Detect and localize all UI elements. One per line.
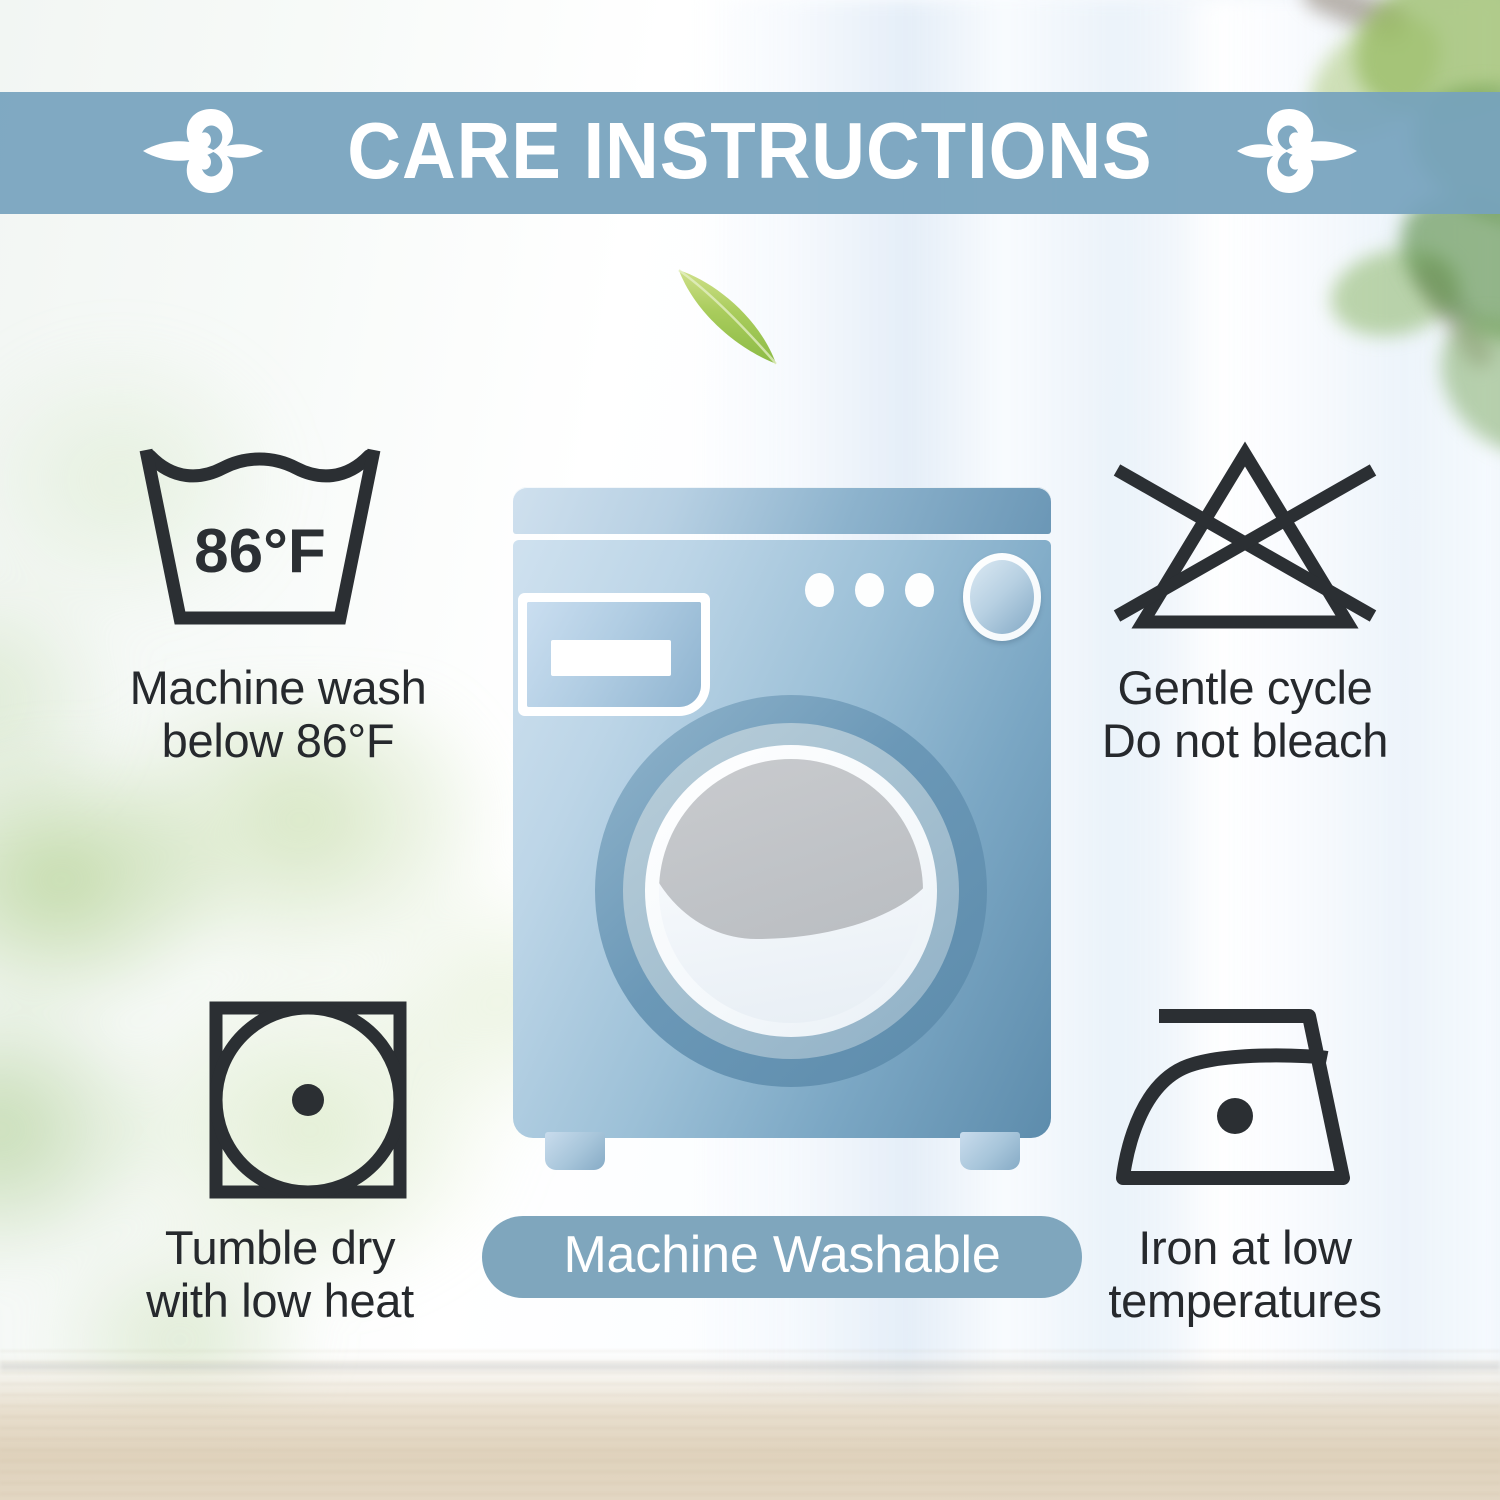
indicator-light <box>805 573 834 607</box>
wash-tub-icon-wrap: 86°F <box>28 440 528 640</box>
control-dial-knob <box>963 553 1041 641</box>
header-banner: CARE INSTRUCTIONS <box>0 92 1500 214</box>
care-item-label-do-not-bleach: Gentle cycle Do not bleach <box>1000 662 1490 767</box>
control-dial-inner <box>970 560 1034 634</box>
page-title: CARE INSTRUCTIONS <box>347 111 1152 195</box>
care-item-label-tumble-dry: Tumble dry with low heat <box>30 1222 530 1327</box>
iron-one-dot-icon <box>1095 1000 1395 1200</box>
washing-machine-body <box>513 540 1051 1138</box>
fleur-de-lis-icon-right <box>1229 103 1361 204</box>
care-item-machine-wash: 86°F Machine wash below 86°F <box>28 440 528 767</box>
detergent-drawer <box>527 602 701 707</box>
iron-icon-wrap <box>1000 1000 1490 1200</box>
detergent-drawer-slot <box>551 640 671 676</box>
indicator-light <box>905 573 934 607</box>
care-item-label-machine-wash: Machine wash below 86°F <box>28 662 528 767</box>
washer-door-inner-ring <box>645 745 937 1037</box>
washing-machine-foot <box>960 1132 1020 1170</box>
wooden-table-surface <box>0 1350 1500 1500</box>
tumble-dry-low-icon <box>130 1000 430 1200</box>
washing-machine-illustration <box>505 487 1060 1177</box>
indicator-lights <box>805 573 934 607</box>
care-item-tumble-dry: Tumble dry with low heat <box>30 1000 530 1327</box>
triangle-crossed-out-icon <box>1095 440 1395 640</box>
washing-machine-top-panel <box>513 487 1051 534</box>
washer-door-glass-highlight <box>659 759 923 939</box>
fleur-de-lis-icon-left <box>139 103 271 204</box>
washing-machine-foot <box>545 1132 605 1170</box>
wash-temperature-value: 86°F <box>194 517 326 586</box>
machine-washable-badge: Machine Washable <box>482 1216 1082 1298</box>
washer-door-middle-ring <box>623 723 959 1059</box>
wash-tub-icon: 86°F <box>128 440 428 640</box>
care-item-do-not-bleach: Gentle cycle Do not bleach <box>1000 440 1490 767</box>
do-not-bleach-icon-wrap <box>1000 440 1490 640</box>
washer-door-glass <box>659 759 923 1023</box>
indicator-light <box>855 573 884 607</box>
tumble-dry-icon-wrap <box>30 1000 530 1200</box>
washer-door-outer-ring <box>595 695 987 1087</box>
machine-washable-badge-label: Machine Washable <box>563 1229 1000 1285</box>
